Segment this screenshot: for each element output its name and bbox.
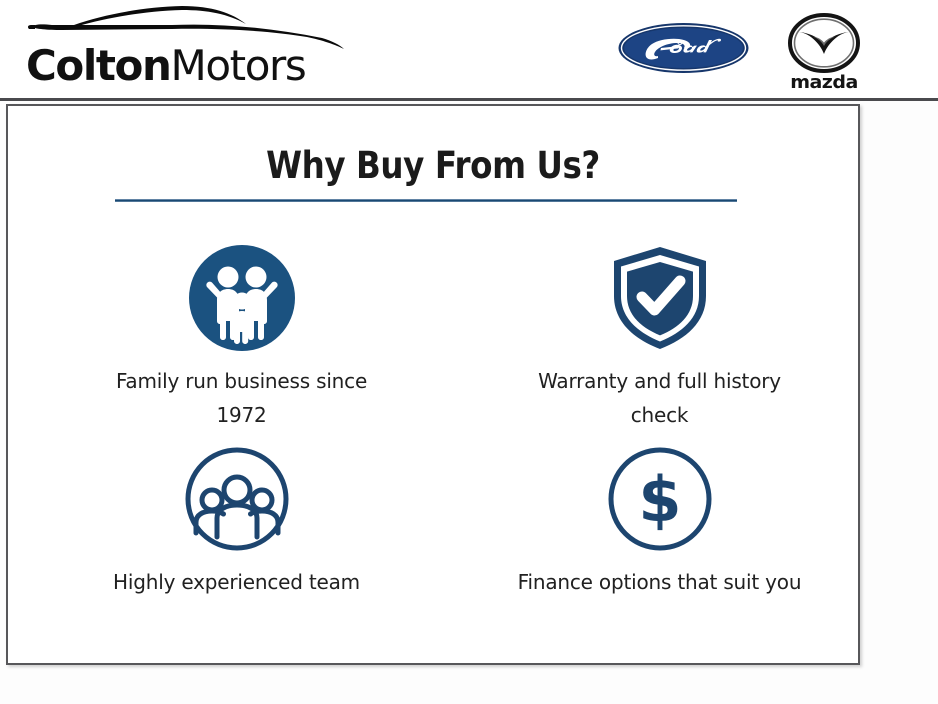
- people-group-outline-icon: [183, 445, 291, 553]
- family-group-icon: [188, 244, 296, 352]
- svg-text:mazda: mazda: [790, 72, 858, 92]
- feature-caption-family: Family run business since 1972: [92, 364, 392, 432]
- feature-caption-finance: Finance options that suit you: [515, 565, 805, 599]
- brand-wordmark: ColtonMotors: [26, 40, 352, 92]
- feature-grid: Family run business since 1972 Warranty …: [8, 236, 858, 642]
- shield-check-icon: [606, 244, 714, 352]
- svg-text:$: $: [638, 463, 681, 536]
- brand-name-light: Motors: [171, 41, 306, 90]
- page-title: Why Buy From Us?: [59, 144, 807, 187]
- heading-divider: [115, 199, 737, 202]
- ford-oval-logo-icon[interactable]: [617, 22, 750, 74]
- feature-item-team: Highly experienced team: [8, 439, 433, 642]
- feature-caption-warranty: Warranty and full history check: [515, 364, 805, 432]
- content-panel: Why Buy From Us?: [6, 104, 860, 665]
- feature-caption-team: Highly experienced team: [107, 565, 367, 599]
- brand-logo[interactable]: ColtonMotors: [22, 2, 352, 97]
- header-divider-rule: [0, 98, 938, 101]
- brand-name-bold: Colton: [26, 41, 171, 90]
- feature-item-family: Family run business since 1972: [8, 236, 433, 439]
- header-band: ColtonMotors mazda: [0, 0, 938, 100]
- feature-item-warranty: Warranty and full history check: [433, 236, 858, 439]
- dollar-sign-circle-icon: $: [606, 445, 714, 553]
- mazda-emblem-logo-icon[interactable]: mazda: [782, 10, 866, 94]
- feature-item-finance: $ Finance options that suit you: [433, 439, 858, 642]
